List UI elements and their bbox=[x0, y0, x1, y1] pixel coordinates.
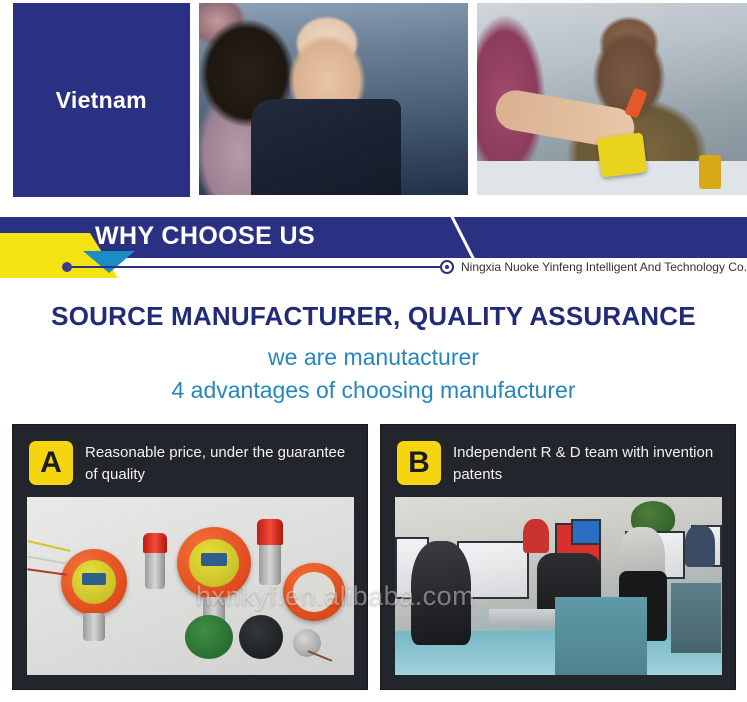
gas-detector-left bbox=[61, 549, 127, 615]
alarm-body-right bbox=[259, 541, 281, 585]
red-wire bbox=[27, 568, 67, 576]
advantage-badge-b: B bbox=[397, 441, 441, 485]
demo-photo bbox=[477, 3, 747, 195]
banner-rule-line bbox=[70, 266, 442, 268]
alarm-lamp-right bbox=[257, 519, 283, 545]
advantage-panel-b: B Independent R & D team with invention … bbox=[380, 424, 736, 690]
grey-wire bbox=[27, 556, 67, 565]
banner-title: WHY CHOOSE US bbox=[95, 222, 315, 251]
circuit-board-green bbox=[185, 615, 233, 659]
product-photo bbox=[27, 497, 354, 675]
circuit-board-black bbox=[239, 615, 283, 659]
rule-end-ring-icon bbox=[440, 260, 454, 274]
advantage-panels: A Reasonable price, under the guarantee … bbox=[0, 424, 747, 692]
detector-housing-ring bbox=[283, 563, 345, 621]
sensor-probe-shape bbox=[625, 87, 648, 118]
alarm-lamp-center bbox=[143, 533, 167, 553]
why-choose-us-banner: WHY CHOOSE US Ningxia Nuoke Yinfeng Inte… bbox=[0, 205, 747, 290]
cubicle-partition bbox=[555, 597, 647, 675]
detector-screen bbox=[82, 573, 106, 585]
advantage-photo-b bbox=[395, 497, 722, 675]
rule-start-dot-icon bbox=[62, 262, 72, 272]
office-photo bbox=[395, 497, 722, 675]
page-title: SOURCE MANUFACTURER, QUALITY ASSURANCE bbox=[0, 301, 747, 332]
country-tile-vietnam: Vietnam bbox=[13, 3, 190, 197]
alarm-body-center bbox=[145, 549, 165, 589]
meeting-photo bbox=[199, 3, 469, 195]
top-image-strip: Vietnam bbox=[0, 0, 747, 200]
advantage-panel-a: A Reasonable price, under the guarantee … bbox=[12, 424, 368, 690]
company-name: Ningxia Nuoke Yinfeng Intelligent And Te… bbox=[461, 260, 747, 274]
employee-background-right bbox=[685, 525, 715, 567]
advantage-text-a: Reasonable price, under the guarantee of… bbox=[85, 442, 355, 486]
phone-shape bbox=[327, 149, 370, 188]
handheld-detector-shape bbox=[597, 132, 648, 177]
yellow-wire bbox=[27, 540, 70, 552]
gas-detector-main bbox=[177, 527, 251, 599]
gesturing-hand-shape bbox=[273, 143, 325, 189]
monitor-blue-screen bbox=[571, 519, 601, 545]
file-cabinet bbox=[671, 583, 721, 653]
advantage-photo-a bbox=[27, 497, 354, 675]
housing-glass bbox=[293, 572, 335, 611]
subtitle-primary: we are manutacturer bbox=[0, 344, 747, 371]
advantage-text-b: Independent R & D team with invention pa… bbox=[453, 442, 723, 486]
detector-sensor-left bbox=[83, 613, 105, 641]
country-label: Vietnam bbox=[56, 87, 147, 114]
advantage-badge-a: A bbox=[29, 441, 73, 485]
employee-background-red bbox=[523, 519, 549, 553]
subtitle-secondary: 4 advantages of choosing manufacturer bbox=[0, 377, 747, 404]
employee-foreground bbox=[411, 541, 471, 645]
gas-can-shape bbox=[699, 155, 721, 189]
detector-screen bbox=[201, 553, 228, 566]
